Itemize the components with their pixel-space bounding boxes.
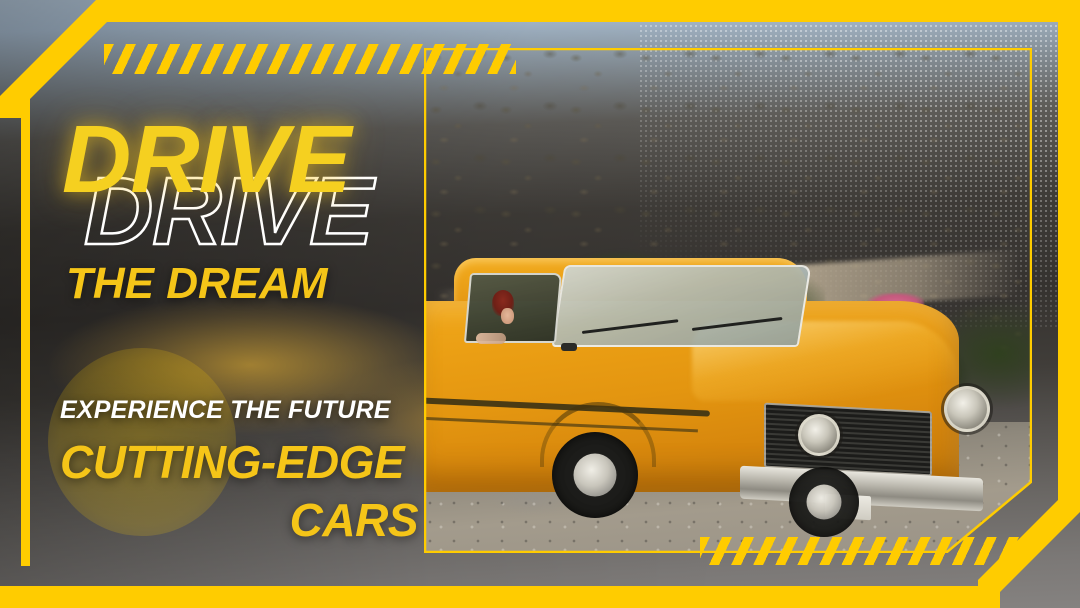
feature-line-1: CUTTING-EDGE <box>60 435 418 489</box>
driver-face <box>501 308 514 324</box>
front-hubcap <box>573 453 616 496</box>
windshield <box>551 265 811 347</box>
side-mirror <box>561 343 577 351</box>
headlight-outer <box>944 386 990 432</box>
headline-solid-text: DRIVE <box>62 112 350 208</box>
rear-hubcap <box>806 485 841 520</box>
diagonal-hatch-stripes-bottom <box>700 537 1020 565</box>
subheadline-text: THE DREAM <box>66 259 328 309</box>
left-accent-bar <box>21 98 30 566</box>
headline-group: DRIVE DRIVE <box>62 112 422 262</box>
classic-car <box>424 48 1032 553</box>
diagonal-hatch-stripes-top <box>104 44 516 74</box>
rear-wheel <box>789 467 859 537</box>
landscape-scene <box>424 48 1032 553</box>
feature-copy-group: EXPERIENCE THE FUTURE CUTTING-EDGE CARS <box>60 396 418 547</box>
driver-arm <box>476 333 506 344</box>
photo-image <box>424 48 1032 553</box>
headlight-inner <box>798 414 840 456</box>
photo-panel <box>424 48 1032 553</box>
kicker-text: EXPERIENCE THE FUTURE <box>60 396 418 425</box>
front-grille <box>764 402 932 475</box>
poster-canvas: DRIVE DRIVE THE DREAM EXPERIENCE THE FUT… <box>0 0 1080 608</box>
feature-line-2: CARS <box>60 493 418 547</box>
front-wheel <box>552 432 638 518</box>
